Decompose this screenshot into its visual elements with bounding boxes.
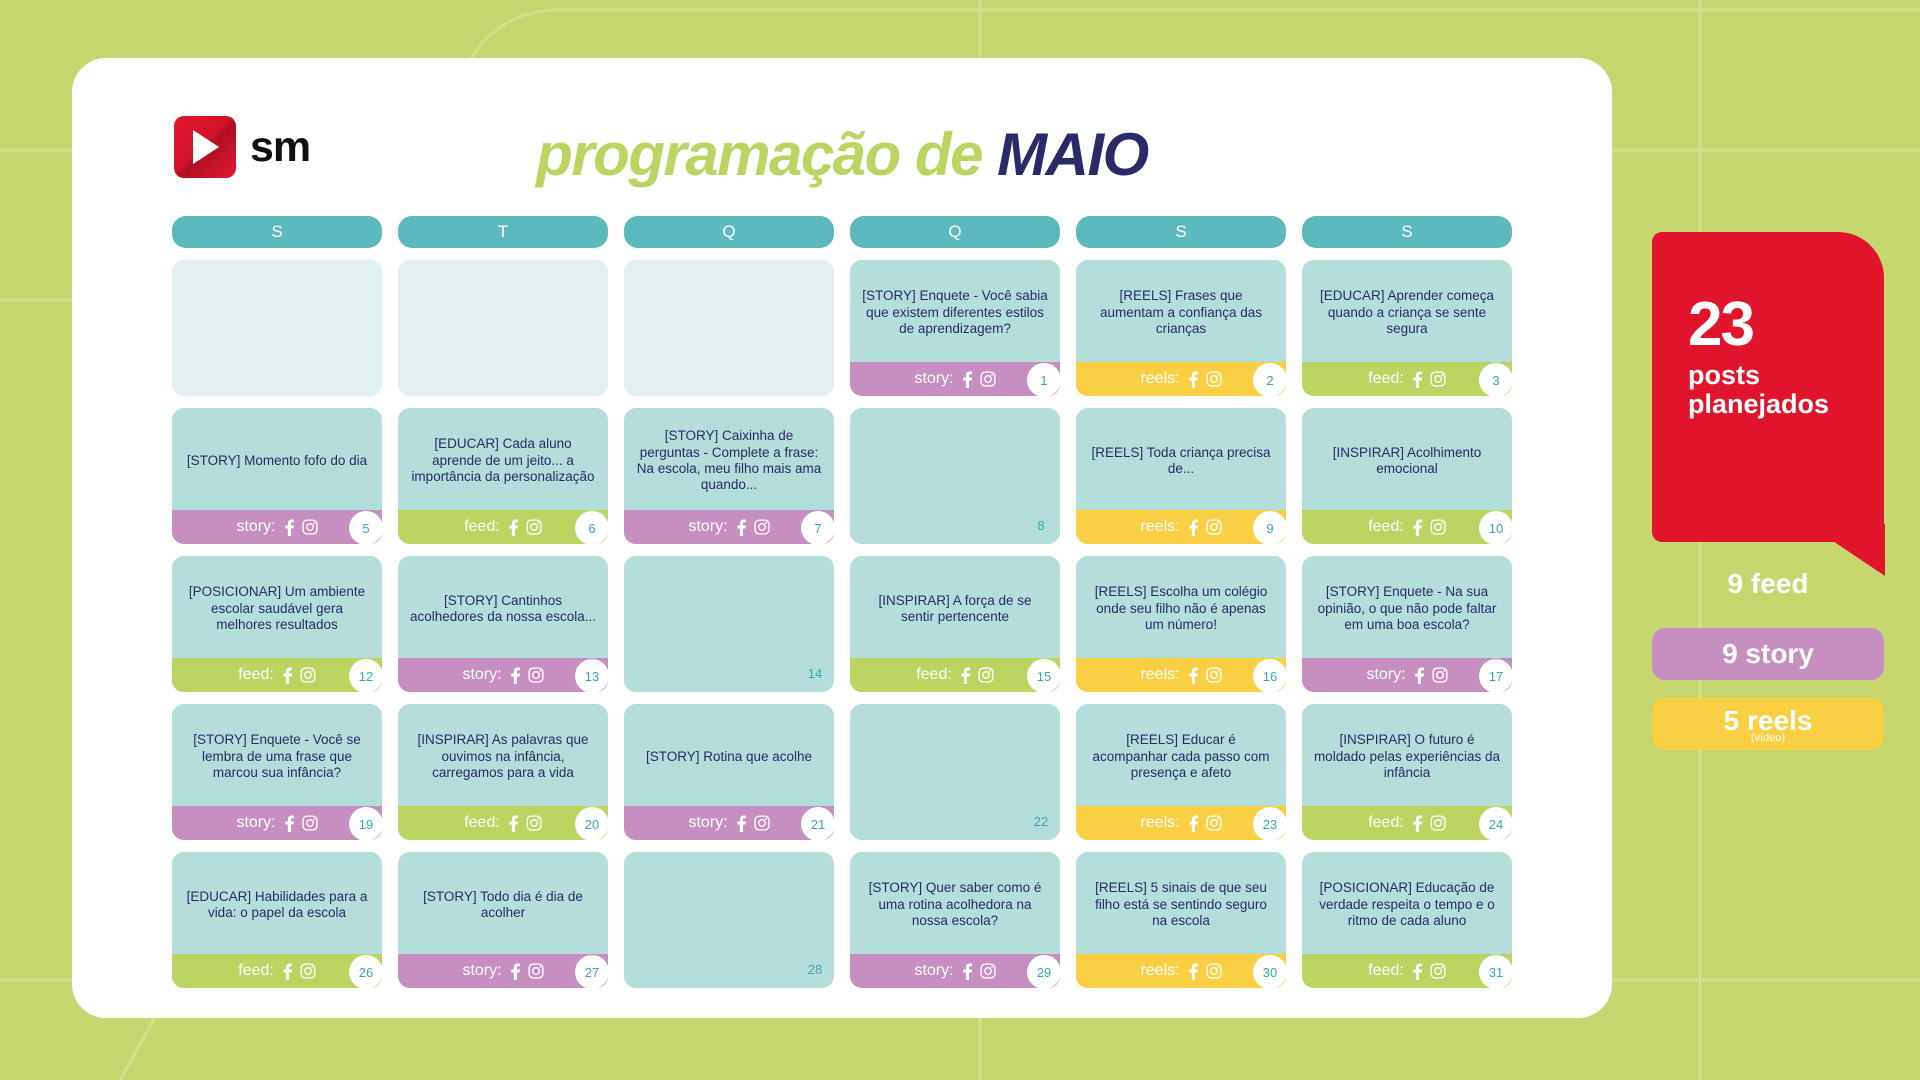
instagram-icon	[754, 519, 770, 535]
calendar-cell-day-17[interactable]: [STORY] Enquete - Na sua opinião, o que …	[1302, 556, 1512, 692]
calendar-cell-day-8[interactable]: 8	[850, 408, 1060, 544]
instagram-icon	[1430, 963, 1446, 979]
social-icons	[961, 963, 996, 980]
day-number: 9	[1253, 511, 1286, 544]
calendar-cell-day-3[interactable]: [EDUCAR] Aprender começa quando a crianç…	[1302, 260, 1512, 396]
post-type-footer-reels[interactable]: reels:30	[1076, 954, 1286, 988]
day-number: 5	[349, 511, 382, 544]
post-type-label: story:	[688, 814, 727, 832]
calendar-cell-day-19[interactable]: [STORY] Enquete - Você se lembra de uma …	[172, 704, 382, 840]
calendar-cell-day-16[interactable]: [REELS] Escolha um colégio onde seu filh…	[1076, 556, 1286, 692]
facebook-icon	[1411, 815, 1424, 832]
post-type-footer-story[interactable]: story:7	[624, 510, 834, 544]
calendar-cell-day-12[interactable]: [POSICIONAR] Um ambiente escolar saudáve…	[172, 556, 382, 692]
post-text: [STORY] Momento fofo do dia	[172, 408, 382, 510]
calendar-card: sm programação de MAIO STQQSS [STORY] En…	[72, 58, 1612, 1018]
posts-label-line1: posts	[1688, 361, 1884, 390]
post-type-label: reels:	[1140, 370, 1179, 388]
instagram-icon	[302, 815, 318, 831]
facebook-icon	[1187, 667, 1200, 684]
post-type-label: reels:	[1140, 666, 1179, 684]
stat-label: 9 feed	[1728, 568, 1809, 600]
social-icons	[735, 815, 770, 832]
facebook-icon	[283, 519, 296, 536]
weekday-header-4: S	[1076, 216, 1286, 248]
instagram-icon	[980, 371, 996, 387]
brand-name: sm	[250, 123, 310, 172]
calendar-cell-day-28[interactable]: 28	[624, 852, 834, 988]
post-text: [INSPIRAR] A força de se sentir pertence…	[850, 556, 1060, 658]
social-icons	[735, 519, 770, 536]
instagram-icon	[978, 667, 994, 683]
day-number: 31	[1479, 955, 1512, 988]
day-number: 15	[1027, 659, 1060, 692]
instagram-icon	[300, 667, 316, 683]
day-number: 27	[575, 955, 608, 988]
day-number: 13	[575, 659, 608, 692]
post-text: [REELS] Frases que aumentam a confiança …	[1076, 260, 1286, 362]
post-type-label: feed:	[916, 666, 952, 684]
post-type-footer-feed[interactable]: feed:3	[1302, 362, 1512, 396]
calendar-cell-day-29[interactable]: [STORY] Quer saber como é uma rotina aco…	[850, 852, 1060, 988]
social-icons	[281, 963, 316, 980]
post-type-label: feed:	[1368, 814, 1404, 832]
post-type-label: feed:	[464, 814, 500, 832]
facebook-icon	[1187, 963, 1200, 980]
calendar-cell-day-9[interactable]: [REELS] Toda criança precisa de...reels:…	[1076, 408, 1286, 544]
page-title-main: programação de	[536, 121, 982, 188]
day-number: 12	[349, 659, 382, 692]
social-icons	[961, 371, 996, 388]
post-type-label: reels:	[1140, 814, 1179, 832]
post-text: [REELS] 5 sinais de que seu filho está s…	[1076, 852, 1286, 954]
calendar-cell-day-31[interactable]: [POSICIONAR] Educação de verdade respeit…	[1302, 852, 1512, 988]
post-text: [EDUCAR] Habilidades para a vida: o pape…	[172, 852, 382, 954]
calendar-cell-day-7[interactable]: [STORY] Caixinha de perguntas - Complete…	[624, 408, 834, 544]
instagram-icon	[1430, 371, 1446, 387]
facebook-icon	[507, 519, 520, 536]
post-type-label: feed:	[1368, 518, 1404, 536]
post-type-label: story:	[688, 518, 727, 536]
calendar-cell-day-24[interactable]: [INSPIRAR] O futuro é moldado pelas expe…	[1302, 704, 1512, 840]
post-text: [STORY] Enquete - Você sabia que existem…	[850, 260, 1060, 362]
social-icons	[1187, 963, 1222, 980]
social-icons	[1187, 519, 1222, 536]
day-number: 1	[1027, 363, 1060, 396]
post-type-footer-story[interactable]: story:17	[1302, 658, 1512, 692]
post-type-footer-reels[interactable]: reels:16	[1076, 658, 1286, 692]
instagram-icon	[526, 519, 542, 535]
post-type-footer-feed[interactable]: feed:12	[172, 658, 382, 692]
post-text: [POSICIONAR] Educação de verdade respeit…	[1302, 852, 1512, 954]
post-type-footer-story[interactable]: story:1	[850, 362, 1060, 396]
day-number: 23	[1253, 807, 1286, 840]
social-icons	[507, 815, 542, 832]
facebook-icon	[1187, 519, 1200, 536]
social-icons	[283, 519, 318, 536]
instagram-icon	[526, 815, 542, 831]
post-type-footer-story[interactable]: story:29	[850, 954, 1060, 988]
post-text: [STORY] Enquete - Na sua opinião, o que …	[1302, 556, 1512, 658]
weekday-header-1: T	[398, 216, 608, 248]
post-text: [STORY] Enquete - Você se lembra de uma …	[172, 704, 382, 806]
social-icons	[1411, 519, 1446, 536]
facebook-icon	[283, 815, 296, 832]
stat-pill-reels: 5 reels(vídeo)	[1652, 698, 1884, 750]
facebook-icon	[281, 963, 294, 980]
calendar-cell-day-15[interactable]: [INSPIRAR] A força de se sentir pertence…	[850, 556, 1060, 692]
facebook-icon	[1411, 519, 1424, 536]
stat-label: 9 story	[1722, 638, 1814, 670]
weekday-header-3: Q	[850, 216, 1060, 248]
facebook-icon	[509, 963, 522, 980]
facebook-icon	[1187, 815, 1200, 832]
instagram-icon	[1206, 519, 1222, 535]
facebook-icon	[1411, 963, 1424, 980]
post-type-footer-feed[interactable]: feed:10	[1302, 510, 1512, 544]
post-type-label: feed:	[1368, 370, 1404, 388]
post-type-footer-reels[interactable]: reels:2	[1076, 362, 1286, 396]
social-icons	[283, 815, 318, 832]
post-text: [INSPIRAR] As palavras que ouvimos na in…	[398, 704, 608, 806]
calendar-cell-empty[interactable]	[172, 260, 382, 396]
social-icons	[281, 667, 316, 684]
post-text: [EDUCAR] Aprender começa quando a crianç…	[1302, 260, 1512, 362]
instagram-icon	[1206, 963, 1222, 979]
post-type-footer-story[interactable]: story:21	[624, 806, 834, 840]
calendar-cell-empty[interactable]	[398, 260, 608, 396]
post-type-footer-reels[interactable]: reels:23	[1076, 806, 1286, 840]
post-text: [STORY] Caixinha de perguntas - Complete…	[624, 408, 834, 510]
post-text: [INSPIRAR] Acolhimento emocional	[1302, 408, 1512, 510]
post-type-footer-story[interactable]: story:13	[398, 658, 608, 692]
post-text: [REELS] Educar é acompanhar cada passo c…	[1076, 704, 1286, 806]
instagram-icon	[1432, 667, 1448, 683]
social-icons	[1411, 963, 1446, 980]
post-text: [STORY] Quer saber como é uma rotina aco…	[850, 852, 1060, 954]
social-icons	[509, 963, 544, 980]
post-type-label: feed:	[1368, 962, 1404, 980]
calendar-cell-day-22[interactable]: 22	[850, 704, 1060, 840]
day-number: 26	[349, 955, 382, 988]
post-text: [STORY] Cantinhos acolhedores da nossa e…	[398, 556, 608, 658]
calendar-grid: [STORY] Enquete - Você sabia que existem…	[106, 260, 1578, 988]
post-type-footer-reels[interactable]: reels:9	[1076, 510, 1286, 544]
post-type-label: reels:	[1140, 518, 1179, 536]
instagram-icon	[302, 519, 318, 535]
day-number: 7	[801, 511, 834, 544]
social-icons	[1187, 667, 1222, 684]
social-icons	[1411, 371, 1446, 388]
post-type-footer-story[interactable]: story:19	[172, 806, 382, 840]
instagram-icon	[300, 963, 316, 979]
post-type-label: story:	[914, 370, 953, 388]
post-type-footer-story[interactable]: story:5	[172, 510, 382, 544]
day-number: 14	[798, 656, 832, 690]
post-type-label: feed:	[464, 518, 500, 536]
social-icons	[1413, 667, 1448, 684]
facebook-icon	[1411, 371, 1424, 388]
day-number: 3	[1479, 363, 1512, 396]
post-type-footer-feed[interactable]: feed:24	[1302, 806, 1512, 840]
post-type-label: story:	[914, 962, 953, 980]
day-number: 21	[801, 807, 834, 840]
calendar-cell-day-2[interactable]: [REELS] Frases que aumentam a confiança …	[1076, 260, 1286, 396]
day-number: 8	[1024, 508, 1058, 542]
facebook-icon	[961, 371, 974, 388]
instagram-icon	[1430, 519, 1446, 535]
day-number: 22	[1024, 804, 1058, 838]
post-type-label: feed:	[238, 962, 274, 980]
post-type-label: story:	[462, 962, 501, 980]
calendar-cell-day-21[interactable]: [STORY] Rotina que acolhestory:21	[624, 704, 834, 840]
post-type-label: story:	[1366, 666, 1405, 684]
post-type-footer-feed[interactable]: feed:6	[398, 510, 608, 544]
stat-pill-feed: 9 feed	[1652, 558, 1884, 610]
page-title: programação de MAIO	[106, 98, 1578, 189]
post-type-footer-feed[interactable]: feed:20	[398, 806, 608, 840]
day-number: 20	[575, 807, 608, 840]
calendar-cell-day-23[interactable]: [REELS] Educar é acompanhar cada passo c…	[1076, 704, 1286, 840]
calendar-cell-day-10[interactable]: [INSPIRAR] Acolhimento emocionalfeed:10	[1302, 408, 1512, 544]
post-text: [REELS] Toda criança precisa de...	[1076, 408, 1286, 510]
day-number: 30	[1253, 955, 1286, 988]
calendar-cell-day-14[interactable]: 14	[624, 556, 834, 692]
calendar-cell-empty[interactable]	[624, 260, 834, 396]
day-number: 24	[1479, 807, 1512, 840]
post-text: [EDUCAR] Cada aluno aprende de um jeito.…	[398, 408, 608, 510]
facebook-icon	[507, 815, 520, 832]
day-number: 19	[349, 807, 382, 840]
weekday-header-row: STQQSS	[106, 216, 1578, 248]
weekday-header-0: S	[172, 216, 382, 248]
day-number: 2	[1253, 363, 1286, 396]
posts-count: 23	[1688, 296, 1884, 353]
post-text: [INSPIRAR] O futuro é moldado pelas expe…	[1302, 704, 1512, 806]
instagram-icon	[754, 815, 770, 831]
page-title-month: MAIO	[997, 121, 1148, 188]
instagram-icon	[1206, 815, 1222, 831]
weekday-header-5: S	[1302, 216, 1512, 248]
header: sm programação de MAIO	[106, 98, 1578, 216]
post-type-label: story:	[236, 814, 275, 832]
posts-label-line2: planejados	[1688, 390, 1884, 419]
day-number: 17	[1479, 659, 1512, 692]
calendar-cell-day-13[interactable]: [STORY] Cantinhos acolhedores da nossa e…	[398, 556, 608, 692]
day-number: 28	[798, 952, 832, 986]
facebook-icon	[1413, 667, 1426, 684]
instagram-icon	[1206, 371, 1222, 387]
stat-sublabel: (vídeo)	[1751, 732, 1785, 744]
stat-pill-list: 9 feed9 story5 reels(vídeo)	[1652, 558, 1884, 750]
post-text: [STORY] Rotina que acolhe	[624, 704, 834, 806]
day-number: 16	[1253, 659, 1286, 692]
calendar-cell-day-6[interactable]: [EDUCAR] Cada aluno aprende de um jeito.…	[398, 408, 608, 544]
post-text: [POSICIONAR] Um ambiente escolar saudáve…	[172, 556, 382, 658]
stat-pill-story: 9 story	[1652, 628, 1884, 680]
calendar-cell-day-30[interactable]: [REELS] 5 sinais de que seu filho está s…	[1076, 852, 1286, 988]
facebook-icon	[959, 667, 972, 684]
social-icons	[507, 519, 542, 536]
facebook-icon	[1187, 371, 1200, 388]
instagram-icon	[980, 963, 996, 979]
day-number: 29	[1027, 955, 1060, 988]
post-text: [REELS] Escolha um colégio onde seu filh…	[1076, 556, 1286, 658]
instagram-icon	[1206, 667, 1222, 683]
post-type-label: story:	[236, 518, 275, 536]
facebook-icon	[961, 963, 974, 980]
sm-play-logo-icon	[174, 116, 236, 178]
post-type-label: story:	[462, 666, 501, 684]
calendar-cell-day-1[interactable]: [STORY] Enquete - Você sabia que existem…	[850, 260, 1060, 396]
post-text: [STORY] Todo dia é dia de acolher	[398, 852, 608, 954]
facebook-icon	[509, 667, 522, 684]
social-icons	[509, 667, 544, 684]
calendar-cell-day-5[interactable]: [STORY] Momento fofo do diastory:5	[172, 408, 382, 544]
social-icons	[959, 667, 994, 684]
calendar-cell-day-27[interactable]: [STORY] Todo dia é dia de acolherstory:2…	[398, 852, 608, 988]
day-number: 10	[1479, 511, 1512, 544]
social-icons	[1187, 815, 1222, 832]
instagram-icon	[528, 667, 544, 683]
instagram-icon	[1430, 815, 1446, 831]
calendar-cell-day-26[interactable]: [EDUCAR] Habilidades para a vida: o pape…	[172, 852, 382, 988]
social-icons	[1187, 371, 1222, 388]
weekday-header-2: Q	[624, 216, 834, 248]
posts-planned-badge: 23 posts planejados	[1652, 232, 1884, 542]
day-number: 6	[575, 511, 608, 544]
brand-logo[interactable]: sm	[174, 116, 310, 178]
facebook-icon	[735, 815, 748, 832]
facebook-icon	[281, 667, 294, 684]
social-icons	[1411, 815, 1446, 832]
post-type-label: reels:	[1140, 962, 1179, 980]
calendar-cell-day-20[interactable]: [INSPIRAR] As palavras que ouvimos na in…	[398, 704, 608, 840]
post-type-footer-feed[interactable]: feed:15	[850, 658, 1060, 692]
post-type-footer-story[interactable]: story:27	[398, 954, 608, 988]
facebook-icon	[735, 519, 748, 536]
post-type-footer-feed[interactable]: feed:31	[1302, 954, 1512, 988]
post-type-label: feed:	[238, 666, 274, 684]
summary-panel: 23 posts planejados 9 feed9 story5 reels…	[1652, 232, 1884, 768]
instagram-icon	[528, 963, 544, 979]
post-type-footer-feed[interactable]: feed:26	[172, 954, 382, 988]
